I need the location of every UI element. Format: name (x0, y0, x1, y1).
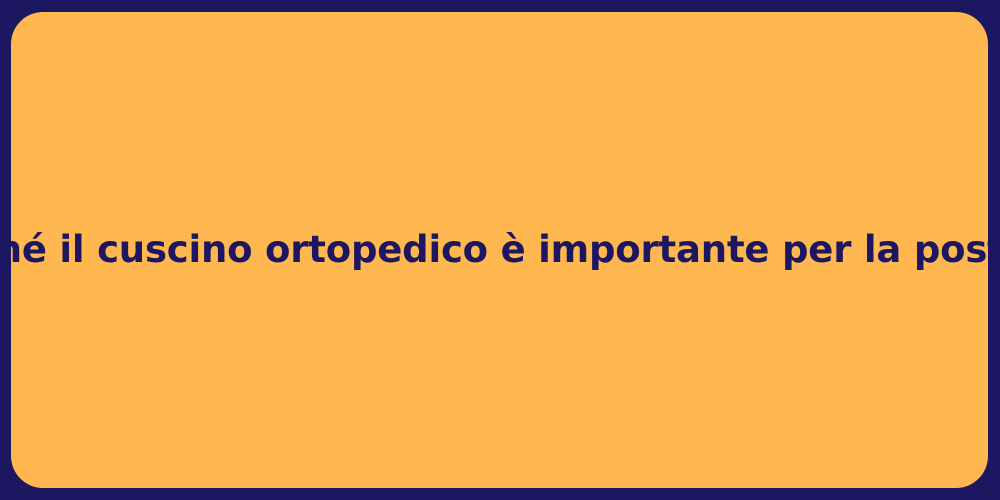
banner-frame: Perché il cuscino ortopedico è important… (0, 0, 1000, 500)
banner-panel: Perché il cuscino ortopedico è important… (11, 12, 988, 488)
page-title: Perché il cuscino ortopedico è important… (0, 227, 1000, 273)
